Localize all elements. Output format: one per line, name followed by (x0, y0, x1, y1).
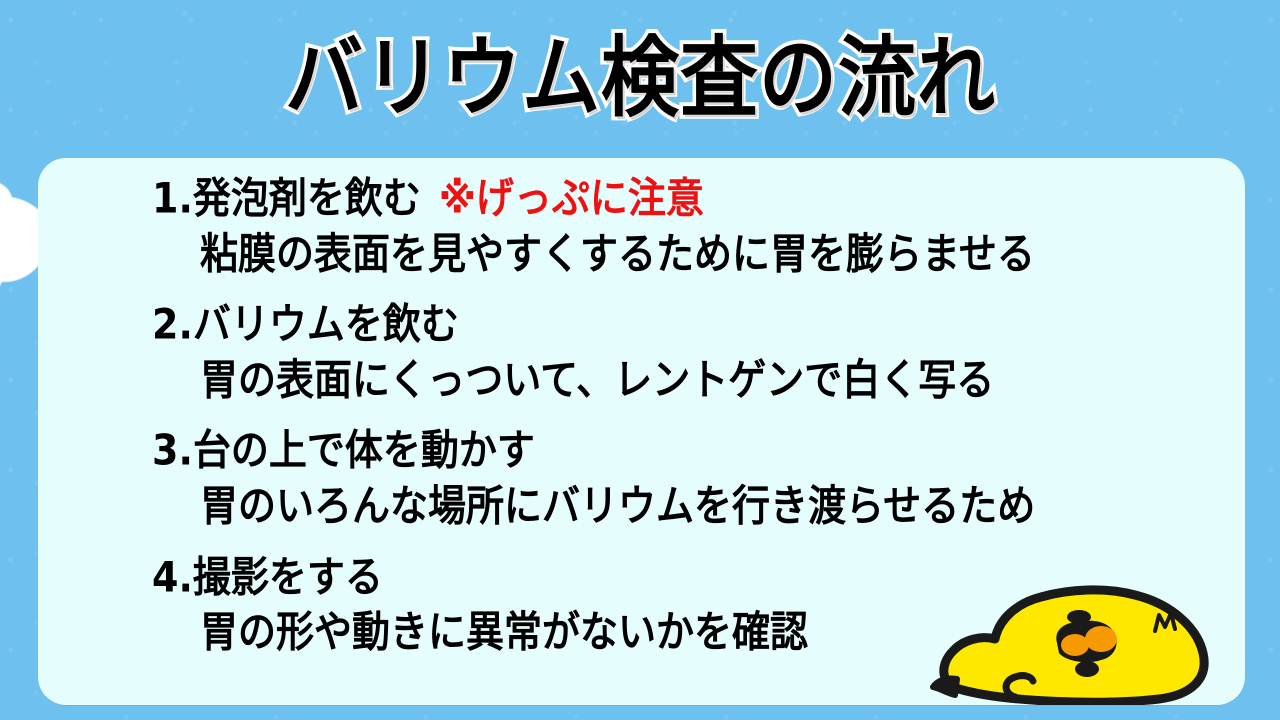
slide-root: バリウム検査の流れ 1. 発泡剤を飲む ※げっぷに注意 粘膜の表面を見やすくする… (0, 0, 1280, 720)
chick-beak (1056, 621, 1117, 662)
step-number: 2. (152, 300, 193, 349)
content-card: 1. 発泡剤を飲む ※げっぷに注意 粘膜の表面を見やすくするために胃を膨らませる… (38, 158, 1245, 705)
step-title: バリウムを飲む (193, 300, 459, 349)
title-banner: バリウム検査の流れ (36, 18, 1245, 140)
chick-mascot-icon (929, 557, 1239, 705)
step-title: 台の上で体を動かす (193, 426, 535, 475)
chick-tail (933, 678, 957, 695)
step-number: 4. (152, 553, 193, 602)
step-heading: 1. 発泡剤を飲む ※げっぷに注意 (52, 174, 1245, 223)
page-title: バリウム検査の流れ (285, 35, 996, 122)
step-number: 3. (152, 426, 193, 475)
step-warning-note: ※げっぷに注意 (439, 174, 704, 223)
list-item: 2. バリウムを飲む 胃の表面にくっついて、レントゲンで白く写る (52, 300, 1245, 402)
step-heading: 3. 台の上で体を動かす (52, 426, 1245, 475)
list-item: 3. 台の上で体を動かす 胃のいろんな場所にバリウムを行き渡らせるため (52, 426, 1245, 528)
step-number: 1. (152, 174, 193, 223)
step-title: 発泡剤を飲む (193, 174, 421, 223)
step-description: 胃の表面にくっついて、レントゲンで白く写る (52, 353, 1245, 408)
step-title: 撮影をする (193, 553, 383, 602)
chick-eye-lower (1075, 661, 1099, 677)
step-description: 胃のいろんな場所にバリウムを行き渡らせるため (52, 479, 1245, 534)
step-heading: 2. バリウムを飲む (52, 300, 1245, 349)
list-item: 1. 発泡剤を飲む ※げっぷに注意 粘膜の表面を見やすくするために胃を膨らませる (52, 174, 1245, 276)
step-description: 粘膜の表面を見やすくするために胃を膨らませる (52, 227, 1245, 282)
